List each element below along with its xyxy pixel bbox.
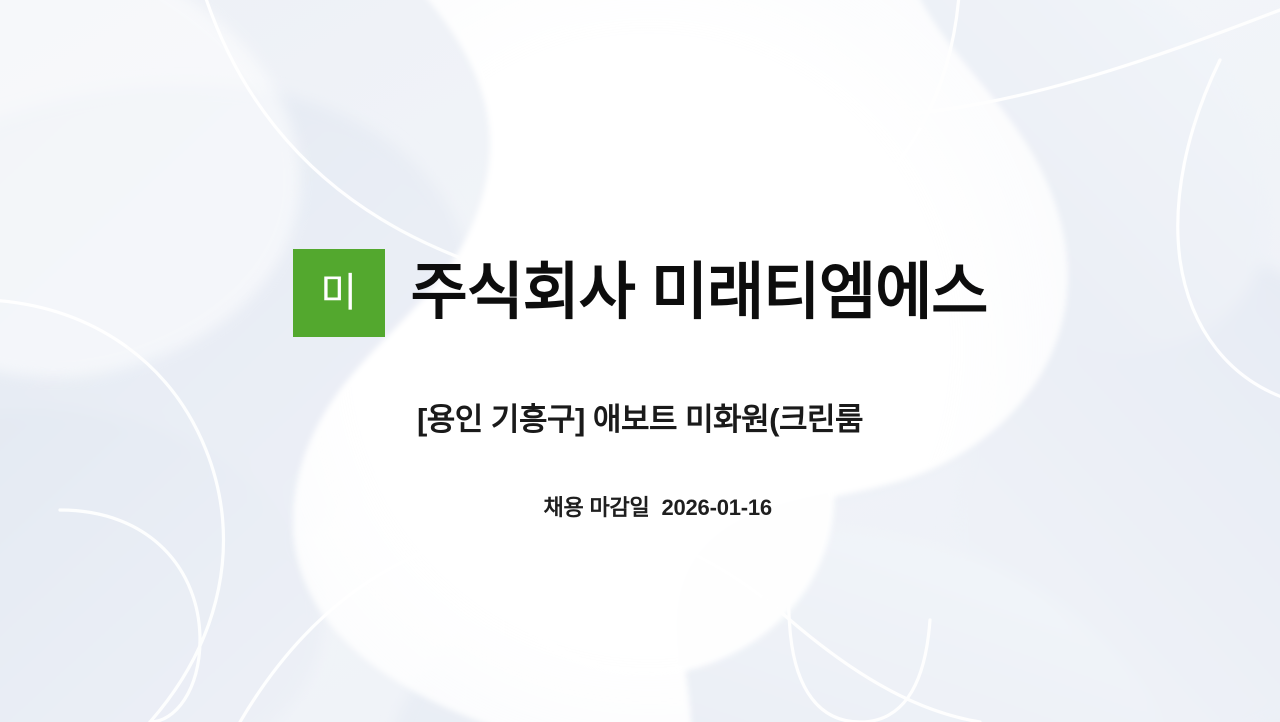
deadline-date: 2026-01-16 bbox=[661, 495, 772, 520]
deadline-label: 채용 마감일 bbox=[543, 495, 649, 520]
company-logo-badge: 미 bbox=[293, 249, 385, 337]
job-title: [용인 기흥구] 애보트 미화원(크린룸 bbox=[0, 400, 1280, 440]
company-header: 미 주식회사 미래티엠에스 bbox=[0, 249, 1280, 337]
job-posting-poster: 미 주식회사 미래티엠에스 [용인 기흥구] 애보트 미화원(크린룸 채용 마감… bbox=[0, 0, 1280, 722]
deadline-row: 채용 마감일 2026-01-16 bbox=[0, 463, 1280, 553]
company-name: 주식회사 미래티엠에스 bbox=[385, 249, 988, 337]
poster-content: 미 주식회사 미래티엠에스 [용인 기흥구] 애보트 미화원(크린룸 채용 마감… bbox=[0, 0, 1280, 722]
deadline-spacer bbox=[650, 495, 662, 520]
